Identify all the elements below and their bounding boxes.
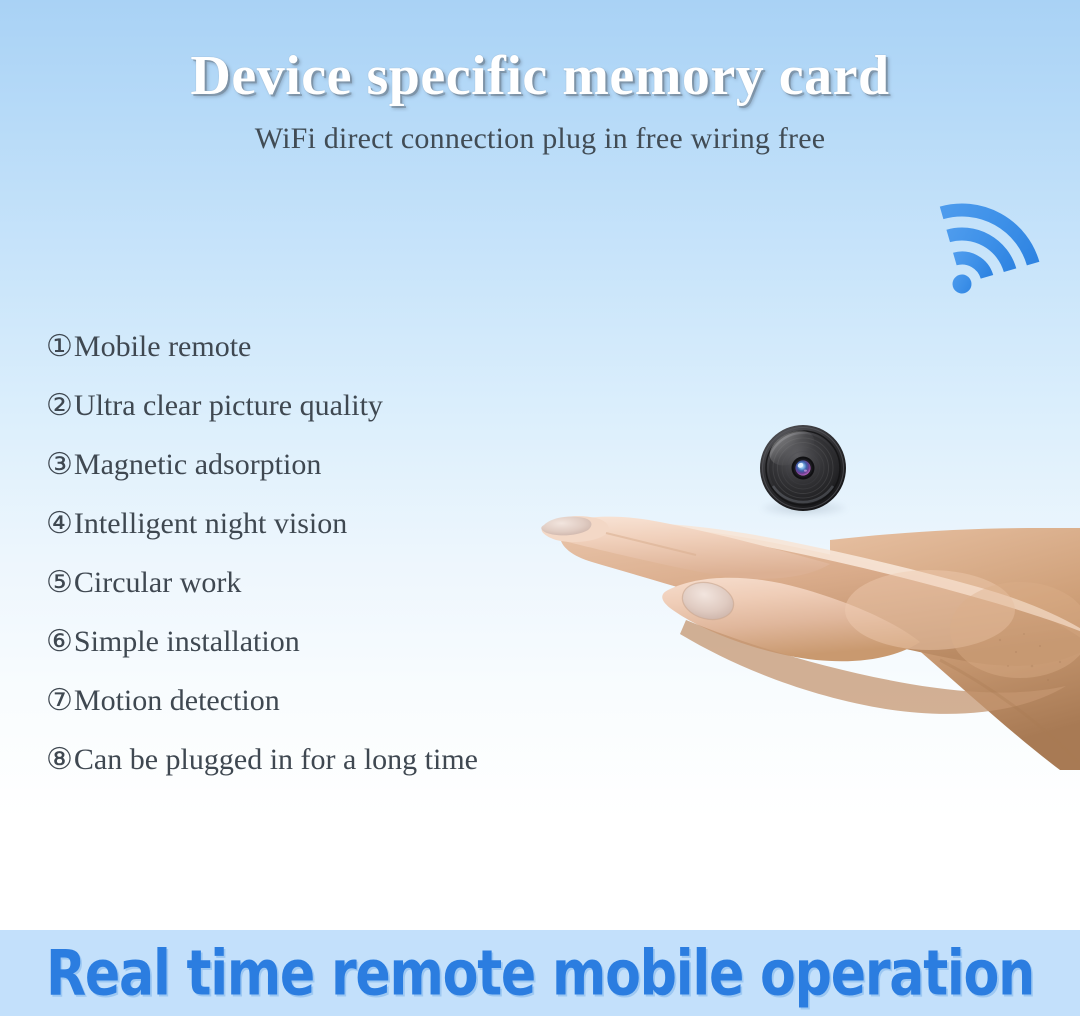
list-item-number: ⑦ — [46, 686, 73, 716]
list-item-number: ② — [46, 391, 73, 421]
list-item-label: Ultra clear picture quality — [74, 389, 383, 423]
list-item-label: Motion detection — [74, 684, 280, 718]
list-item-label: Circular work — [74, 566, 241, 600]
list-item: ① Mobile remote — [46, 330, 666, 389]
list-item-number: ① — [46, 332, 73, 362]
list-item-label: Mobile remote — [74, 330, 251, 364]
list-item-label: Magnetic adsorption — [74, 448, 321, 482]
page-subtitle: WiFi direct connection plug in free wiri… — [0, 122, 1080, 156]
banner-footer-strip — [0, 1016, 1080, 1025]
wifi-signal-icon — [928, 186, 1048, 301]
banner-headline: Real time remote mobile operation — [46, 937, 1034, 1010]
list-item-number: ⑥ — [46, 627, 73, 657]
bottom-banner: Real time remote mobile operation — [0, 930, 1080, 1016]
list-item-label: Can be plugged in for a long time — [74, 743, 478, 777]
list-item-number: ⑧ — [46, 745, 73, 775]
open-palm-hand — [500, 470, 1080, 800]
list-item-number: ⑤ — [46, 568, 73, 598]
product-poster: Device specific memory card WiFi direct … — [0, 0, 1080, 1025]
page-title: Device specific memory card — [0, 44, 1080, 108]
list-item: ② Ultra clear picture quality — [46, 389, 666, 448]
list-item-label: Simple installation — [74, 625, 300, 659]
list-item-label: Intelligent night vision — [74, 507, 347, 541]
list-item-number: ④ — [46, 509, 73, 539]
mini-camera-device — [759, 424, 847, 512]
list-item-number: ③ — [46, 450, 73, 480]
